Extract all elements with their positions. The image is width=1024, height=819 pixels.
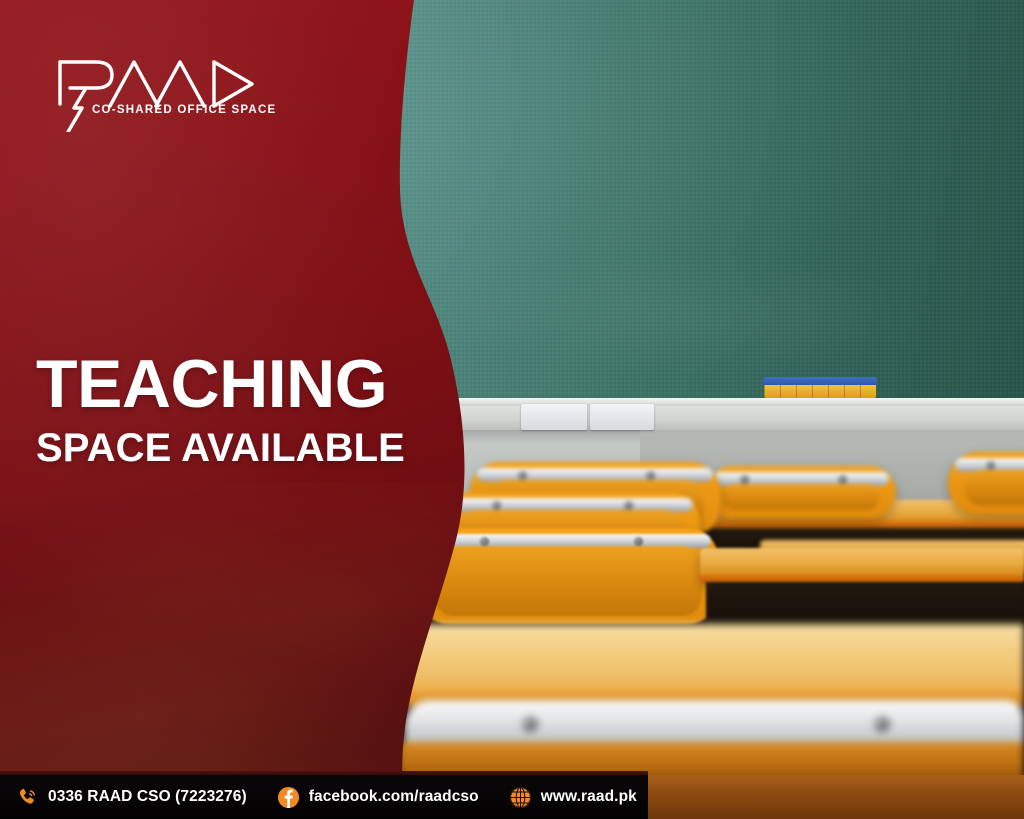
footer-contact-website[interactable]: www.raad.pk	[509, 786, 637, 809]
raad-logo[interactable]	[48, 48, 300, 132]
footer-facebook-text: facebook.com/raadcso	[309, 788, 479, 806]
raad-wordmark-icon	[48, 48, 300, 132]
chalk-piece	[521, 404, 587, 430]
desk-top	[398, 624, 1024, 694]
headline-block: TEACHING SPACE AVAILABLE	[36, 352, 456, 469]
footer-phone-text: 0336 RAAD CSO (7223276)	[48, 788, 247, 806]
footer-bar: 0336 RAAD CSO (7223276) facebook.com/raa…	[0, 775, 648, 819]
brand-tagline: CO-SHARED OFFICE SPACE	[92, 104, 276, 116]
footer-website-text: www.raad.pk	[541, 788, 637, 806]
facebook-icon	[277, 786, 300, 809]
globe-icon	[509, 786, 532, 809]
classroom-seat	[418, 528, 718, 624]
footer-contact-facebook[interactable]: facebook.com/raadcso	[277, 786, 479, 809]
chalkboard-smudge	[430, 250, 950, 380]
classroom-desk	[700, 548, 1024, 584]
phone-icon	[16, 786, 39, 809]
chalk-piece	[590, 404, 654, 430]
desk-rail	[404, 700, 1024, 746]
chalkboard-eraser	[763, 377, 877, 399]
classroom-seat	[706, 466, 896, 518]
eraser-body	[764, 385, 876, 398]
headline-line-1: TEACHING	[36, 352, 456, 417]
footer-contact-phone[interactable]: 0336 RAAD CSO (7223276)	[16, 786, 247, 809]
classroom-seat	[948, 452, 1024, 514]
poster-canvas: CO-SHARED OFFICE SPACE TEACHING SPACE AV…	[0, 0, 1024, 819]
headline-line-2: SPACE AVAILABLE	[36, 427, 456, 469]
footer-right-photo-strip	[648, 775, 1024, 819]
